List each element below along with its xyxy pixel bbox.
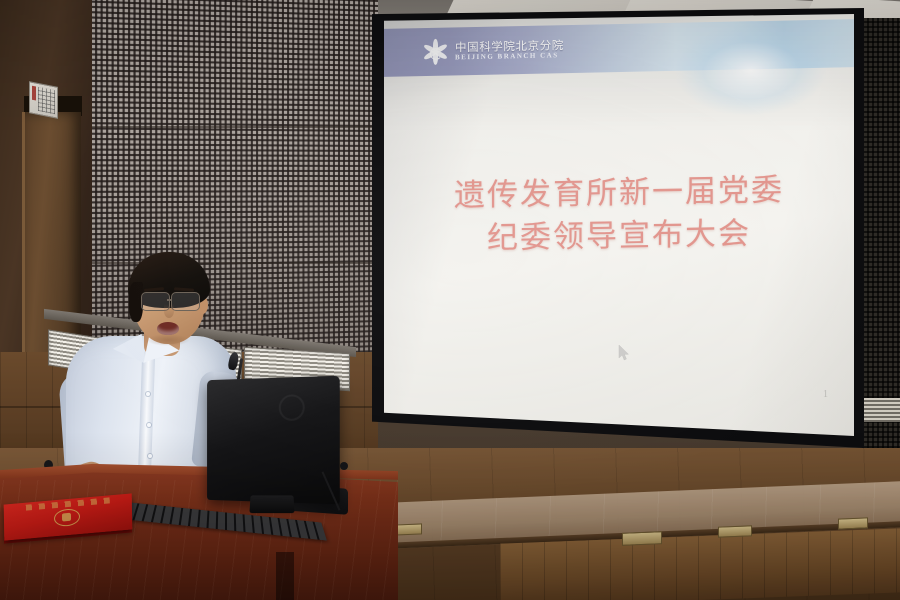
panel-indicator-icon	[32, 86, 36, 101]
cas-flower-logo-icon	[422, 39, 448, 66]
slide-title-line-1: 遗传发育所新一届党委	[384, 168, 854, 219]
perforated-acoustic-wall	[73, 0, 378, 363]
monitor-stand	[249, 495, 294, 513]
floor-outlet-cover[interactable]	[838, 517, 868, 529]
slide-page-number: 1	[823, 389, 828, 400]
organization-branding: 中国科学院北京分院 BEIJING BRANCH CAS	[455, 39, 564, 62]
chin-shadow	[146, 334, 190, 346]
floor-outlet-cover[interactable]	[718, 525, 752, 537]
microphone-head-right[interactable]	[340, 462, 348, 470]
nose	[164, 304, 174, 318]
wall-control-panel[interactable]	[29, 81, 58, 119]
presenter-monitor[interactable]	[207, 376, 340, 505]
projection-screen[interactable]: 中国科学院北京分院 BEIJING BRANCH CAS 遗传发育所新一届党委 …	[384, 14, 854, 436]
folder-emblem-icon	[54, 508, 80, 527]
wall-seam	[88, 126, 378, 128]
floor-outlet-cover[interactable]	[622, 531, 662, 546]
slide-title: 遗传发育所新一届党委 纪委领导宣布大会	[384, 168, 854, 262]
panel-button-grid[interactable]	[38, 87, 55, 114]
conference-hall-photo: 中国科学院北京分院 BEIJING BRANCH CAS 遗传发育所新一届党委 …	[0, 0, 900, 600]
floor-outlet-cover[interactable]	[394, 523, 422, 535]
eyeglasses-bridge	[167, 299, 172, 301]
shirt-button	[148, 454, 152, 458]
shirt-button	[146, 392, 150, 396]
right-acoustic-wall	[862, 18, 900, 448]
eyeglasses-lens-right	[171, 292, 200, 311]
org-name-en: BEIJING BRANCH CAS	[455, 52, 564, 62]
slide-header-band: 中国科学院北京分院 BEIJING BRANCH CAS	[384, 19, 854, 77]
wall-seam	[88, 262, 378, 264]
right-wall-vent	[864, 398, 900, 422]
podium-leg-gap	[276, 552, 294, 600]
slide-title-line-2: 纪委领导宣布大会	[384, 211, 854, 262]
shirt-button	[147, 423, 151, 427]
